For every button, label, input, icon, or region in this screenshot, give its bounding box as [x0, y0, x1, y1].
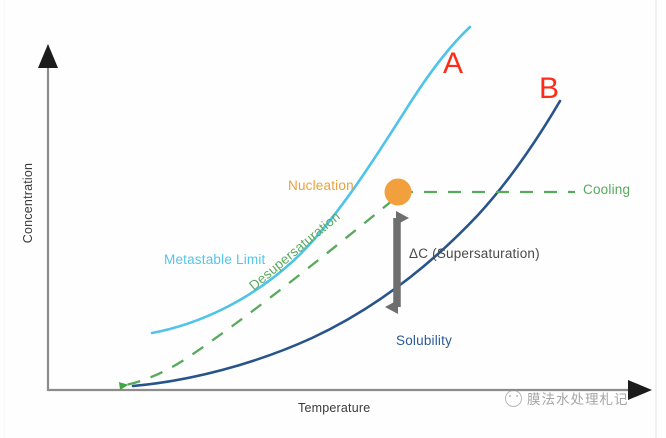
- cooling-label: Cooling: [583, 182, 630, 197]
- delta-c-label: ΔC (Supersaturation): [409, 246, 540, 261]
- solubility-label: Solubility: [396, 333, 452, 348]
- x-axis-arrowhead: [628, 380, 652, 400]
- curve-a-label: A: [443, 47, 463, 81]
- curve-solubility: [133, 101, 560, 386]
- x-axis-title: Temperature: [298, 401, 370, 415]
- watermark-text: 膜法水处理札记: [527, 388, 629, 408]
- metastable-limit-label: Metastable Limit: [164, 252, 266, 267]
- desupersaturation-dashed-arrow: [120, 200, 393, 386]
- axis-group: [38, 44, 652, 400]
- watermark: 膜法水处理札记: [505, 388, 629, 408]
- y-axis-arrowhead: [38, 44, 58, 68]
- curve-b-label: B: [539, 72, 559, 106]
- nucleation-point-marker: [385, 179, 412, 206]
- y-axis-title: Concentration: [21, 133, 35, 273]
- crystallization-phase-diagram: Concentration Temperature A B Nucleation…: [0, 0, 666, 438]
- nucleation-label: Nucleation: [288, 178, 354, 193]
- watermark-logo-icon: [505, 390, 522, 407]
